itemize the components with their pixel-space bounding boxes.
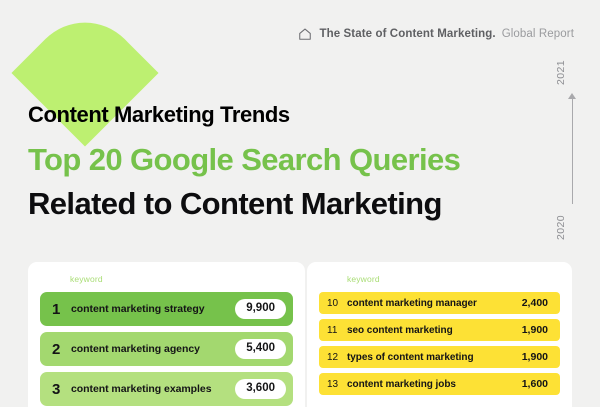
brand-bar: The State of Content Marketing. Global R… <box>298 27 574 41</box>
table-row[interactable]: 2 content marketing agency 5,400 <box>40 332 293 366</box>
timeline-year-top: 2021 <box>555 60 589 85</box>
row-keyword: content marketing agency <box>71 343 235 355</box>
row-keyword: content marketing manager <box>347 298 522 309</box>
page-title-green: Top 20 Google Search Queries <box>28 138 568 182</box>
row-rank: 10 <box>327 298 347 309</box>
keyword-table-left: keyword 1 content marketing strategy 9,9… <box>28 262 305 407</box>
home-icon <box>298 27 312 41</box>
headline-block: Content Marketing Trends Top 20 Google S… <box>28 100 568 226</box>
row-rank: 11 <box>327 325 347 336</box>
row-rank: 1 <box>52 301 71 318</box>
keyword-rows-right: 10 content marketing manager 2,400 11 se… <box>319 292 560 395</box>
keyword-rows-left: 1 content marketing strategy 9,900 2 con… <box>40 292 293 406</box>
table-row[interactable]: 12 types of content marketing 1,900 <box>319 346 560 368</box>
row-keyword: content marketing examples <box>71 383 235 395</box>
column-header-keyword-left: keyword <box>70 274 293 284</box>
column-header-keyword-right: keyword <box>347 274 560 284</box>
row-volume: 1,600 <box>522 378 548 390</box>
table-row[interactable]: 11 seo content marketing 1,900 <box>319 319 560 341</box>
row-rank: 13 <box>327 379 347 390</box>
page-title-black: Related to Content Marketing <box>28 182 568 226</box>
row-keyword: content marketing strategy <box>71 303 235 315</box>
table-row[interactable]: 13 content marketing jobs 1,600 <box>319 373 560 395</box>
table-row[interactable]: 3 content marketing examples 3,600 <box>40 372 293 406</box>
timeline-axis <box>572 96 573 204</box>
table-row[interactable]: 1 content marketing strategy 9,900 <box>40 292 293 326</box>
row-keyword: content marketing jobs <box>347 379 522 390</box>
row-volume: 3,600 <box>235 379 286 399</box>
row-rank: 2 <box>52 341 71 358</box>
eyebrow-text: Content Marketing Trends <box>28 100 568 130</box>
brand-title: The State of Content Marketing. <box>319 28 495 40</box>
row-keyword: types of content marketing <box>347 352 522 363</box>
table-row[interactable]: 10 content marketing manager 2,400 <box>319 292 560 314</box>
row-volume: 1,900 <box>522 351 548 363</box>
keyword-table-right: keyword 10 content marketing manager 2,4… <box>307 262 572 407</box>
row-volume: 5,400 <box>235 339 286 359</box>
row-volume: 1,900 <box>522 324 548 336</box>
row-volume: 9,900 <box>235 299 286 319</box>
row-rank: 3 <box>52 381 71 398</box>
timeline-year-bottom: 2020 <box>555 215 589 240</box>
brand-subtitle: Global Report <box>502 28 574 40</box>
row-volume: 2,400 <box>522 297 548 309</box>
keyword-tables: keyword 1 content marketing strategy 9,9… <box>28 262 572 407</box>
row-keyword: seo content marketing <box>347 325 522 336</box>
year-timeline: 2021 2020 <box>561 60 583 240</box>
row-rank: 12 <box>327 352 347 363</box>
